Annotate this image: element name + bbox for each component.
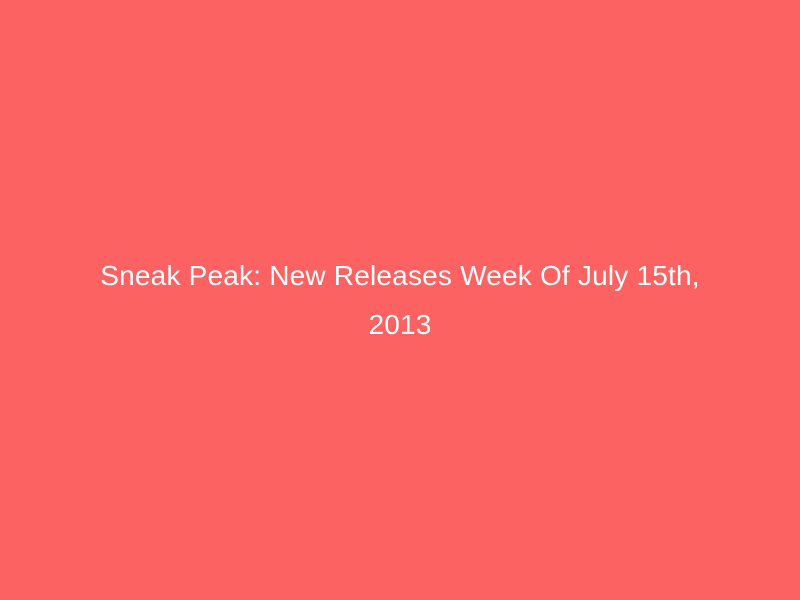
banner-placeholder: Sneak Peak: New Releases Week Of July 15… xyxy=(0,0,800,600)
page-title: Sneak Peak: New Releases Week Of July 15… xyxy=(80,251,720,349)
title-block: Sneak Peak: New Releases Week Of July 15… xyxy=(70,251,730,349)
